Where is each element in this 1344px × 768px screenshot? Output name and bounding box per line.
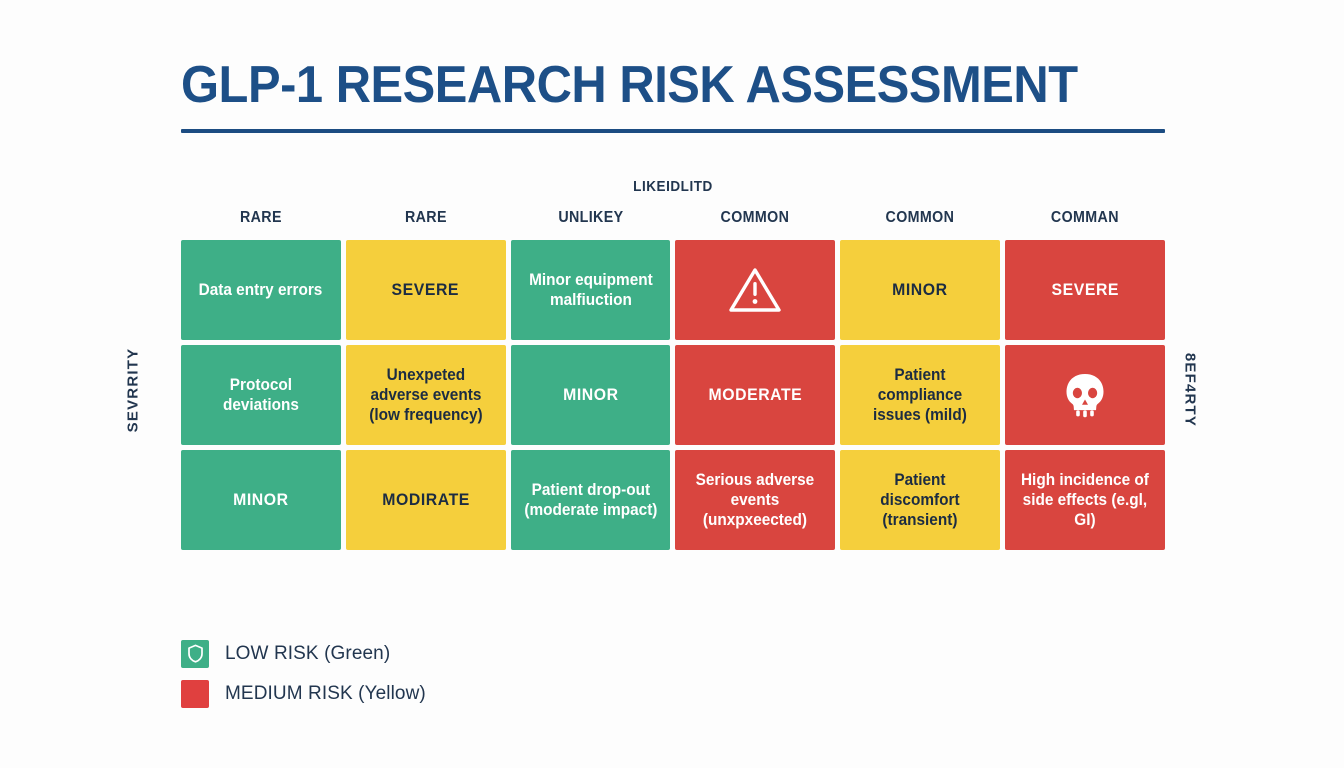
matrix-cell[interactable]: Data entry errors <box>181 240 341 340</box>
matrix-cell-label: Data entry errors <box>199 280 323 300</box>
matrix-cell-label: SEVERE <box>1051 280 1118 301</box>
column-header: COMMON <box>682 209 829 227</box>
title-block: GLP-1 RESEARCH RISK ASSESSMENT <box>181 58 1165 133</box>
matrix-cell[interactable] <box>1005 345 1165 445</box>
matrix-cell[interactable]: Patient compliance issues (mild) <box>840 345 1000 445</box>
matrix-cell-label: MODIRATE <box>382 490 470 511</box>
legend-swatch-medium-risk <box>181 680 209 708</box>
matrix-cell-label: Patient compliance issues (mild) <box>853 365 987 425</box>
risk-matrix: LIKEIDLITD RARE RARE UNLIKEY COMMON COMM… <box>181 178 1165 550</box>
matrix-cell-label: Patient discomfort (transient) <box>853 470 987 530</box>
matrix-cell[interactable]: MODIRATE <box>346 450 506 550</box>
legend-label: LOW RISK (Green) <box>225 643 390 665</box>
matrix-cell[interactable] <box>675 240 835 340</box>
matrix-cell[interactable]: SEVERE <box>346 240 506 340</box>
shield-icon <box>187 644 204 663</box>
matrix-cell[interactable]: Minor equipment malfiuction <box>511 240 671 340</box>
matrix-cell-label: SEVERE <box>392 280 459 301</box>
legend-item: LOW RISK (Green) <box>181 637 426 670</box>
matrix-cell[interactable]: High incidence of side effects (e.gl, GI… <box>1005 450 1165 550</box>
page-title: GLP-1 RESEARCH RISK ASSESSMENT <box>181 58 1106 113</box>
column-header: UNLIKEY <box>517 209 664 227</box>
matrix-cell-label: Serious adverse events (unxpxeected) <box>689 470 823 530</box>
column-header: RARE <box>187 209 334 227</box>
severity-axis-label: SEVRRITY <box>125 348 142 433</box>
risk-assessment-infographic: GLP-1 RESEARCH RISK ASSESSMENT SEVRRITY … <box>0 0 1344 768</box>
matrix-cell[interactable]: MODERATE <box>675 345 835 445</box>
matrix-cell-label: Minor equipment malfiuction <box>524 270 658 310</box>
title-divider <box>181 129 1165 133</box>
legend-swatch-low-risk <box>181 640 209 668</box>
skull-icon <box>1064 372 1106 418</box>
column-header-row: RARE RARE UNLIKEY COMMON COMMON COMMAN <box>181 209 1165 227</box>
matrix-cell-label: Patient drop-out (moderate impact) <box>524 480 658 520</box>
matrix-cell[interactable]: Protocol deviations <box>181 345 341 445</box>
secondary-axis-label: 8EF4RTY <box>1182 353 1199 427</box>
matrix-cell-label: Protocol deviations <box>194 375 328 415</box>
column-header: COMMAN <box>1012 209 1159 227</box>
matrix-cell[interactable]: Serious adverse events (unxpxeected) <box>675 450 835 550</box>
column-header: RARE <box>352 209 499 227</box>
matrix-cell[interactable]: Unexpeted adverse events (low frequency) <box>346 345 506 445</box>
warning-triangle-icon <box>727 265 783 315</box>
likelihood-axis-label: LIKEIDLITD <box>230 178 1116 195</box>
matrix-cell[interactable]: Patient drop-out (moderate impact) <box>511 450 671 550</box>
matrix-cell-label: MINOR <box>892 280 947 301</box>
matrix-grid: Data entry errorsSEVEREMinor equipment m… <box>181 240 1165 550</box>
matrix-cell[interactable]: MINOR <box>840 240 1000 340</box>
matrix-cell[interactable]: MINOR <box>511 345 671 445</box>
legend-item: MEDIUM RISK (Yellow) <box>181 677 426 710</box>
matrix-cell[interactable]: Patient discomfort (transient) <box>840 450 1000 550</box>
matrix-cell-label: MINOR <box>233 490 288 511</box>
column-header: COMMON <box>847 209 994 227</box>
matrix-cell-label: Unexpeted adverse events (low frequency) <box>359 365 493 425</box>
matrix-cell-label: MODERATE <box>709 385 803 406</box>
matrix-cell-label: MINOR <box>563 385 618 406</box>
matrix-cell[interactable]: MINOR <box>181 450 341 550</box>
legend: LOW RISK (Green) MEDIUM RISK (Yellow) <box>181 637 426 717</box>
matrix-cell[interactable]: SEVERE <box>1005 240 1165 340</box>
legend-label: MEDIUM RISK (Yellow) <box>225 683 426 705</box>
matrix-cell-label: High incidence of side effects (e.gl, GI… <box>1018 470 1152 530</box>
